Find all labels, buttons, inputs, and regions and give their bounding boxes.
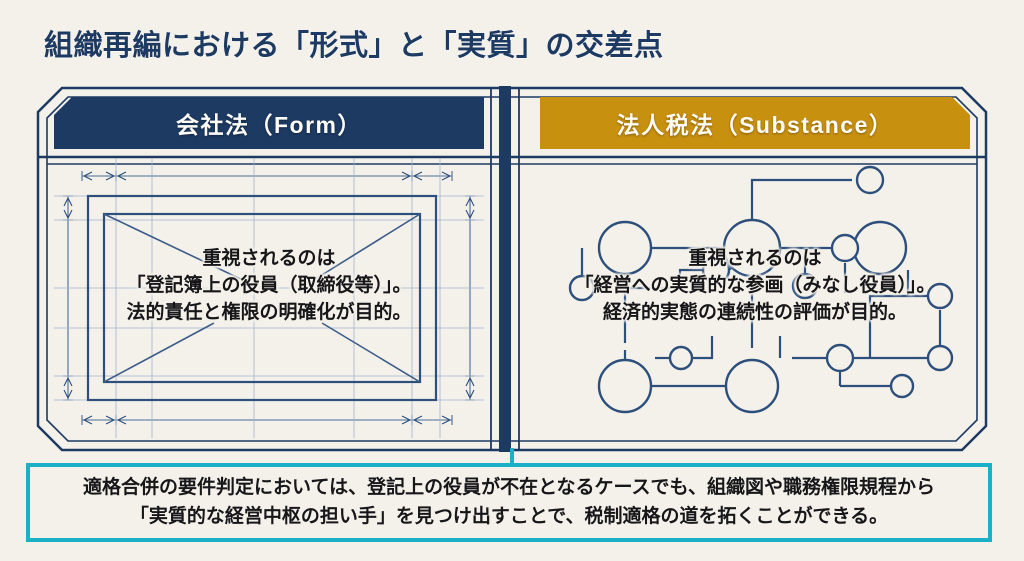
panel-header-company-law: 会社法（Form） (54, 97, 484, 149)
callout-line: 「実質的な経営中枢の担い手」を見つけ出すことで、税制適格の道を拓くことができる。 (130, 503, 888, 532)
panel-corporate-tax-law: 法人税法（Substance） (522, 86, 988, 452)
panel-company-law: 会社法（Form） (36, 86, 502, 452)
blueprint-drafting-icon (54, 158, 484, 438)
panel-header-label: 会社法（Form） (176, 106, 362, 140)
node-network-icon (540, 158, 970, 438)
comparison-frame: 会社法（Form） (36, 86, 988, 452)
callout-box: 適格合併の要件判定においては、登記上の役員が不在となるケースでも、組織図や職務権… (26, 463, 992, 542)
page-title: 組織再編における「形式」と「実質」の交差点 (44, 22, 664, 64)
panel-header-corporate-tax-law: 法人税法（Substance） (540, 97, 970, 149)
panel-header-label: 法人税法（Substance） (617, 106, 894, 140)
callout-line: 適格合併の要件判定においては、登記上の役員が不在となるケースでも、組織図や職務権… (83, 474, 935, 503)
